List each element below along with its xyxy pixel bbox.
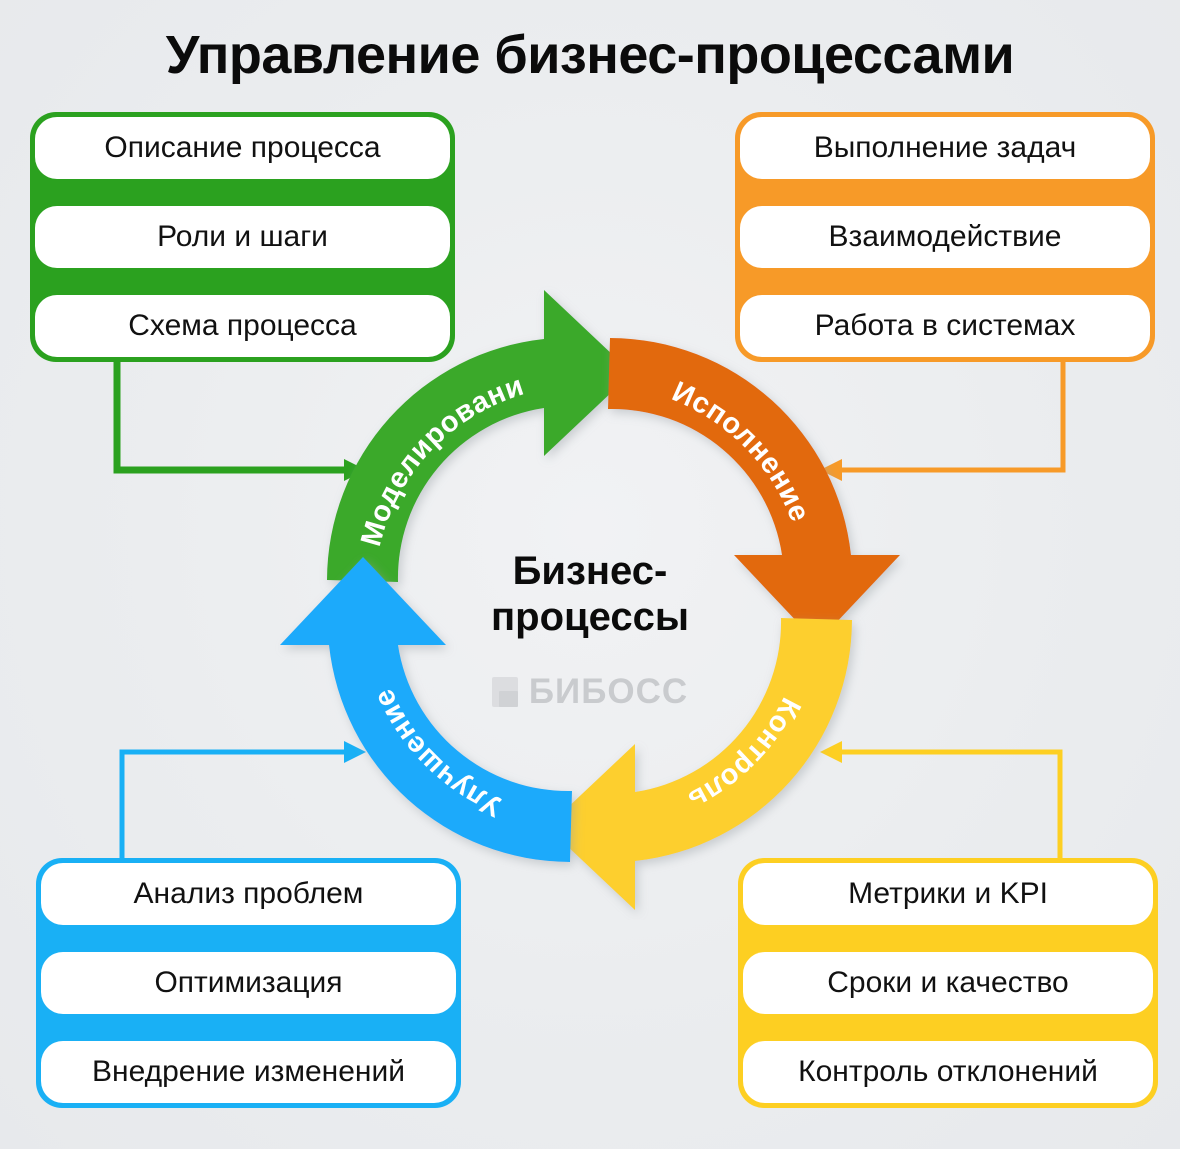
group-control[interactable]: Метрики и KPI Сроки и качество Контроль … bbox=[738, 858, 1158, 1108]
group-modeling[interactable]: Описание процесса Роли и шаги Схема проц… bbox=[30, 112, 455, 362]
bibos-logo-icon bbox=[492, 677, 518, 707]
cycle-center-label: Бизнес- процессы bbox=[430, 548, 750, 640]
list-item[interactable]: Роли и шаги bbox=[35, 206, 450, 268]
list-item[interactable]: Выполнение задач bbox=[740, 117, 1150, 179]
center-line-1: Бизнес- bbox=[430, 548, 750, 594]
diagram-canvas: Управление бизнес-процессами bbox=[0, 0, 1180, 1149]
list-item[interactable]: Сроки и качество bbox=[743, 952, 1153, 1014]
watermark: БИБОСС bbox=[430, 672, 750, 712]
list-item[interactable]: Метрики и KPI bbox=[743, 863, 1153, 925]
list-item[interactable]: Описание процесса bbox=[35, 117, 450, 179]
center-line-2: процессы bbox=[430, 594, 750, 640]
page-title: Управление бизнес-процессами bbox=[0, 24, 1180, 86]
list-item[interactable]: Схема процесса bbox=[35, 295, 450, 357]
list-item[interactable]: Работа в системах bbox=[740, 295, 1150, 357]
list-item[interactable]: Взаимодействие bbox=[740, 206, 1150, 268]
list-item[interactable]: Контроль отклонений bbox=[743, 1041, 1153, 1103]
group-improvement[interactable]: Анализ проблем Оптимизация Внедрение изм… bbox=[36, 858, 461, 1108]
list-item[interactable]: Анализ проблем bbox=[41, 863, 456, 925]
watermark-text: БИБОСС bbox=[529, 672, 688, 712]
group-execution[interactable]: Выполнение задач Взаимодействие Работа в… bbox=[735, 112, 1155, 362]
list-item[interactable]: Внедрение изменений bbox=[41, 1041, 456, 1103]
list-item[interactable]: Оптимизация bbox=[41, 952, 456, 1014]
